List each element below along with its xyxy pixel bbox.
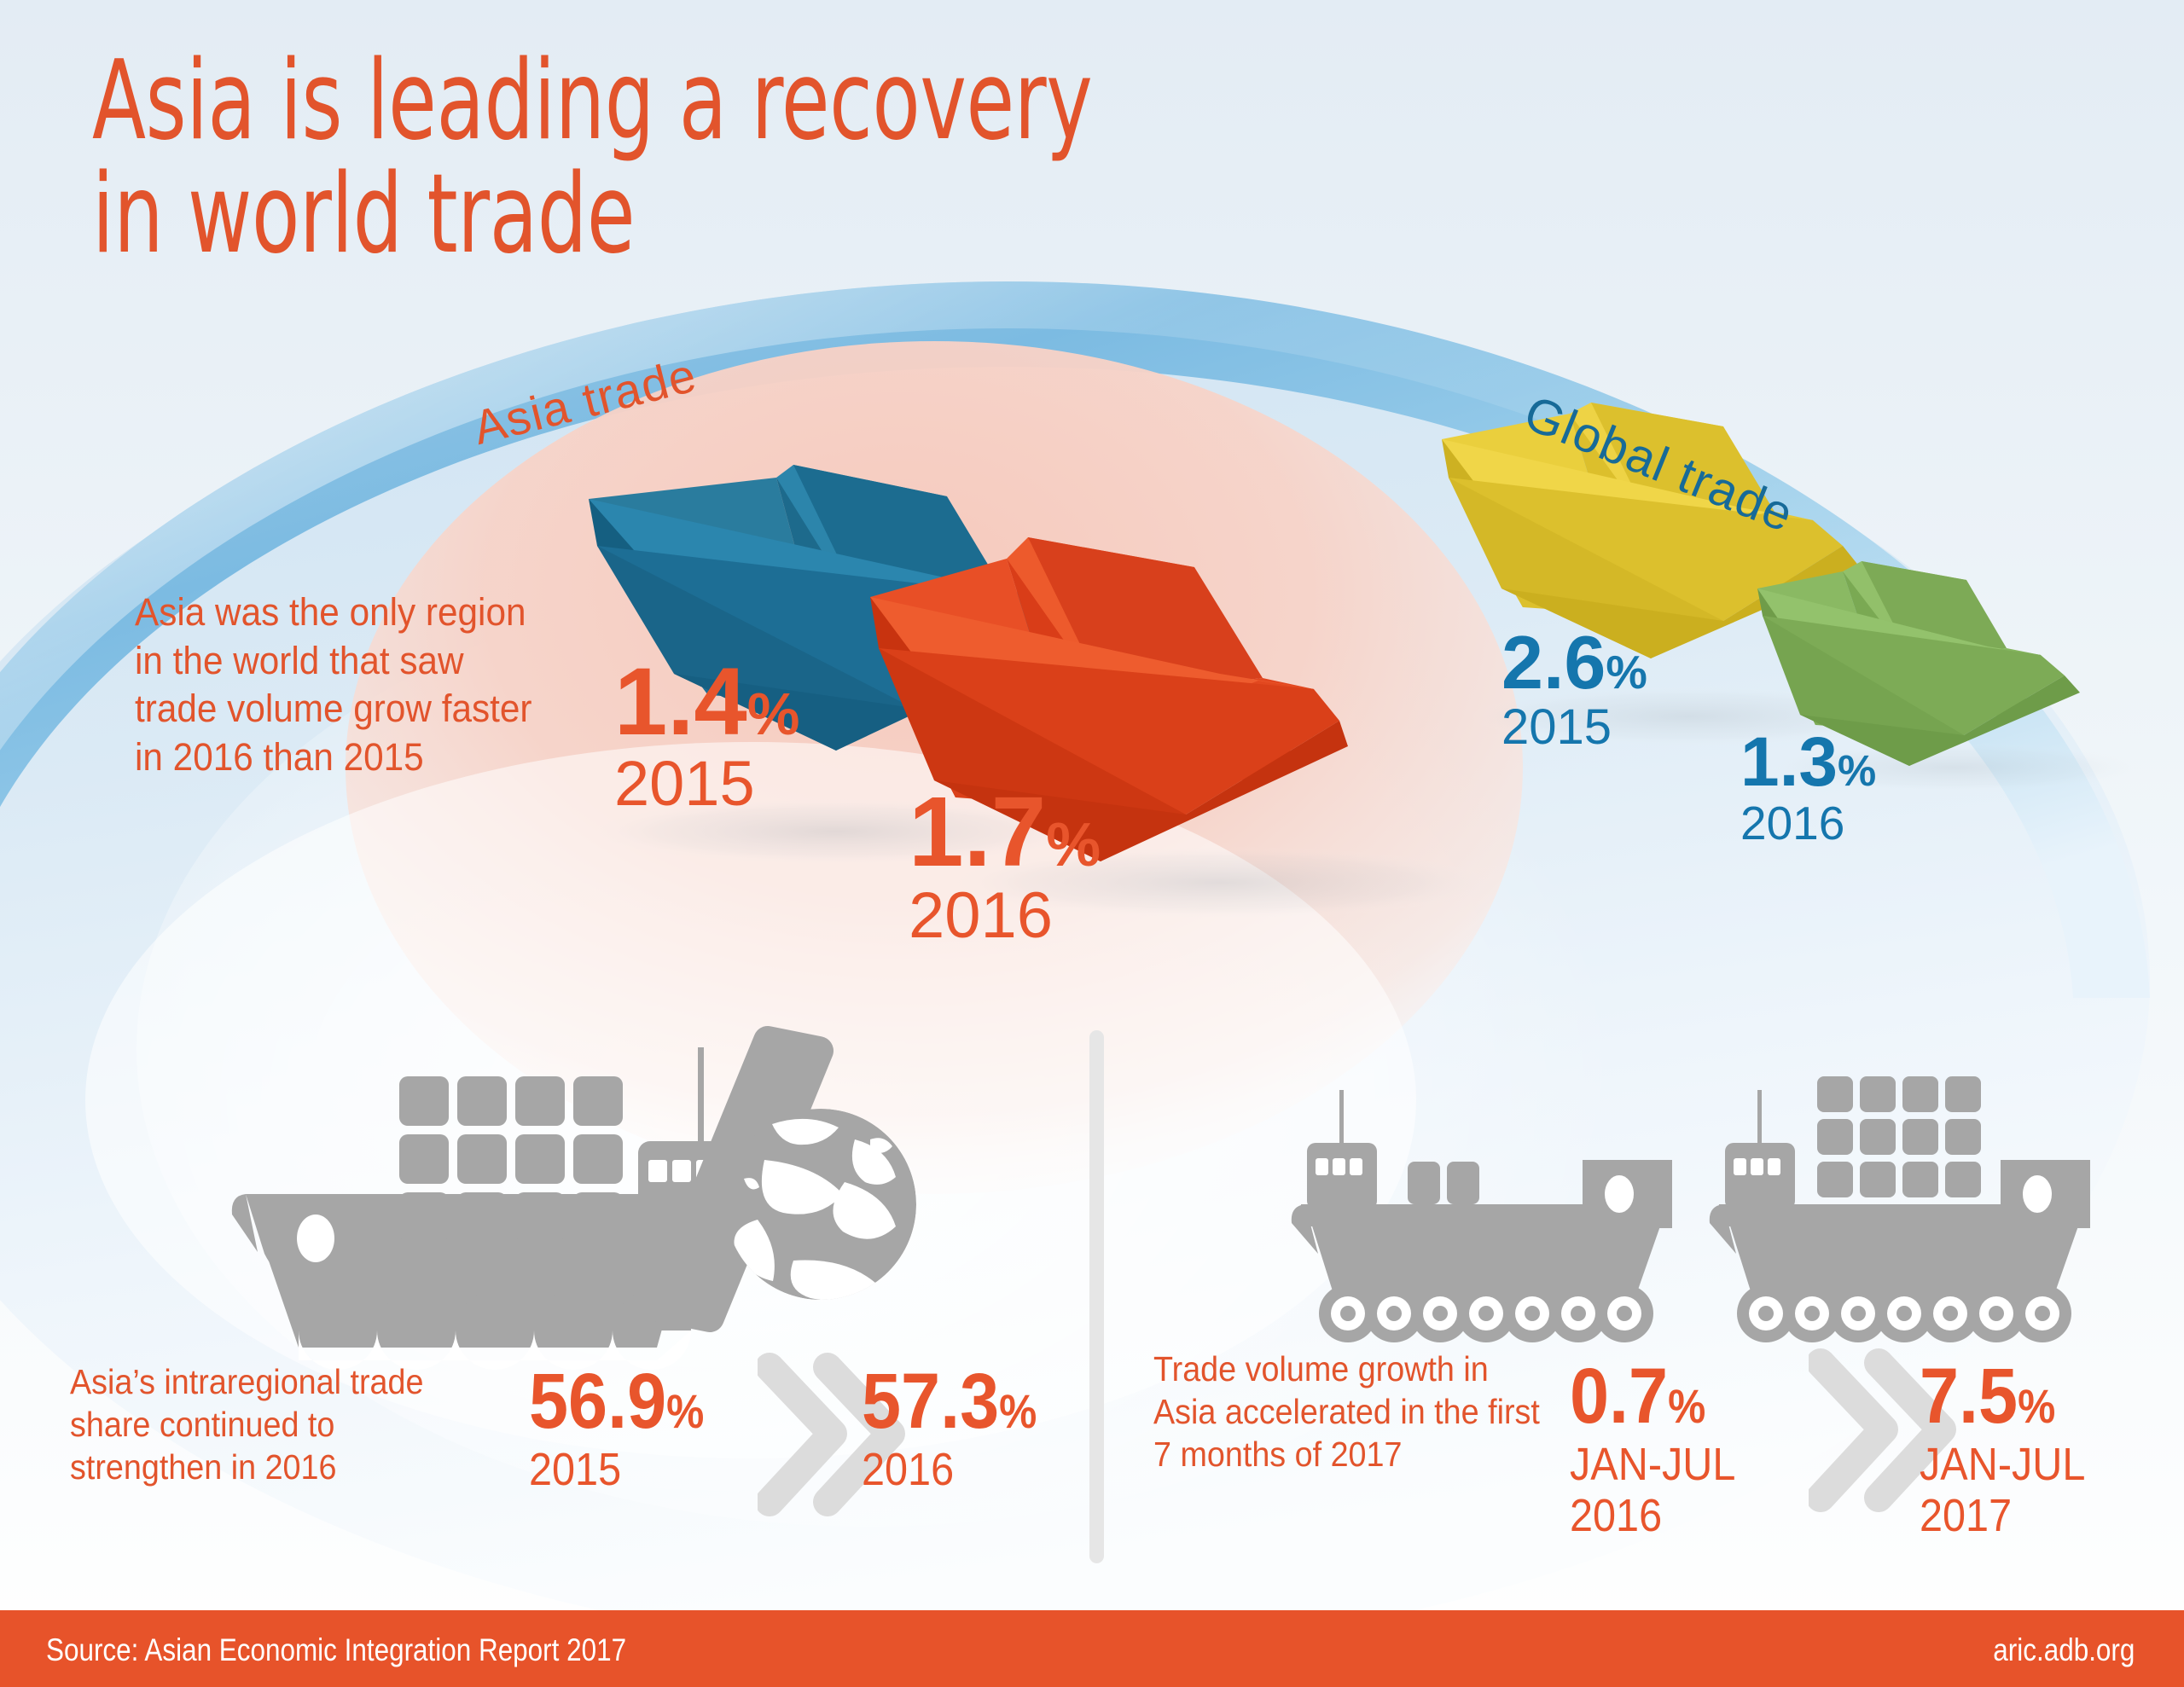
panel-left-caption: Asia’s intraregional trade share continu… [70,1360,478,1488]
panel-intraregional-trade-share: Asia’s intraregional trade share continu… [51,1023,1075,1620]
figure-label2: 2016 [1570,1491,1735,1541]
footer-url-link[interactable]: aric.adb.org [1993,1632,2135,1668]
stat-global-trade-2015: 2.6% 2015 [1501,627,1647,753]
intro-paragraph: Asia was the only region in the world th… [135,588,536,782]
figure-label: 2016 [862,1445,1037,1495]
figure-2016-share: 57.3% 2016 [862,1363,1056,1496]
panel-trade-volume-growth: Trade volume growth in Asia accelerated … [1135,1023,2158,1620]
figure-value: 7.5% [1920,1358,2085,1435]
stat-year: 2016 [909,882,1101,950]
stat-value: 2.6% [1501,627,1647,699]
section-divider [1089,1030,1104,1563]
figure-value: 0.7% [1570,1358,1735,1435]
stat-year: 2015 [1501,702,1647,754]
footer-bar: Source: Asian Economic Integration Repor… [0,1610,2184,1687]
page-title: Asia is leading a recovery in world trad… [92,44,1252,271]
figure-janjul-2017: 7.5% JAN-JUL 2017 [1920,1358,2104,1541]
figure-value: 57.3% [862,1363,1037,1440]
figure-value: 56.9% [529,1363,704,1440]
infographic-canvas: Asia is leading a recovery in world trad… [0,0,2184,1687]
stat-asia-trade-2015: 1.4% 2015 [614,657,799,817]
stat-year: 2016 [1740,799,1876,849]
figure-label: 2015 [529,1445,704,1495]
figure-label: JAN-JUL [1920,1440,2085,1490]
stat-asia-trade-2016: 1.7% 2016 [909,785,1101,950]
stat-value: 1.3% [1740,729,1876,796]
footer-source-text: Source: Asian Economic Integration Repor… [46,1632,626,1668]
global-trade-arc-label: Global trade [1516,384,1802,543]
figure-label: JAN-JUL [1570,1440,1735,1490]
figure-2015-share: 56.9% 2015 [529,1363,723,1496]
asia-trade-arc-label: Asia trade [468,346,702,455]
panel-right-caption: Trade volume growth in Asia accelerated … [1153,1348,1554,1475]
stat-year: 2015 [614,751,799,817]
stat-value: 1.7% [909,785,1101,878]
stat-value: 1.4% [614,657,799,747]
figure-janjul-2016: 0.7% JAN-JUL 2016 [1570,1358,1754,1541]
figure-label2: 2017 [1920,1491,2085,1541]
stat-global-trade-2016: 1.3% 2016 [1740,729,1876,849]
